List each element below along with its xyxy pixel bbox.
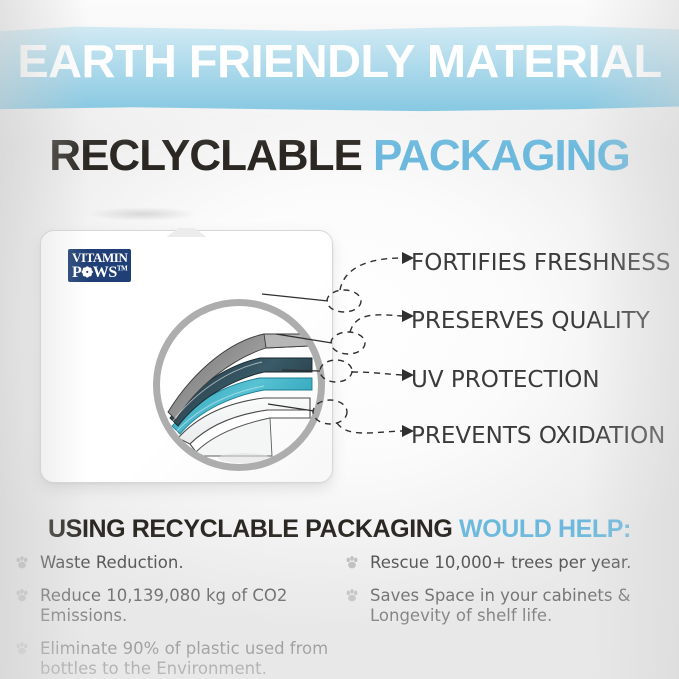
sub-heading-dark: RECLYCLABLE <box>49 131 362 180</box>
callout-label-uv-protection: UV PROTECTION <box>411 369 600 392</box>
paw-print-icon <box>14 588 30 603</box>
sub-heading-blue: PACKAGING <box>373 131 630 180</box>
benefit-item: Reduce 10,139,080 kg of CO2 Emissions. <box>14 586 344 626</box>
callout-label-prevents-oxidation: PREVENTS OXIDATION <box>411 425 665 448</box>
reflection-blob <box>218 453 270 463</box>
paw-print-icon <box>14 555 30 570</box>
connector-line-2 <box>350 315 402 332</box>
paw-print-icon <box>344 555 360 570</box>
pouch-shadow <box>88 207 198 221</box>
benefit-text: Reduce 10,139,080 kg of CO2 Emissions. <box>40 586 287 625</box>
brand-logo-line2: P❁WSTM <box>72 265 127 281</box>
bottom-heading-blue: WOULD HELP: <box>459 515 631 543</box>
connector-line-4 <box>337 423 402 433</box>
benefits-column-left: Waste Reduction. Reduce 10,139,080 kg of… <box>14 553 344 679</box>
benefit-text: Rescue 10,000+ trees per year. <box>370 553 631 572</box>
product-pouch: VITAMIN P❁WSTM <box>40 230 333 483</box>
connector-node-2 <box>331 332 365 354</box>
paw-print-icon <box>344 588 360 603</box>
brand-logo: VITAMIN P❁WSTM <box>68 249 131 282</box>
benefit-item: Saves Space in your cabinets & Longevity… <box>344 586 674 626</box>
brand-logo-line1: VITAMIN <box>72 251 127 264</box>
banner-title: EARTH FRIENDLY MATERIAL <box>0 38 679 84</box>
benefit-item: Rescue 10,000+ trees per year. <box>344 553 674 573</box>
film-layers-diagram <box>160 306 318 464</box>
infographic-page: EARTH FRIENDLY MATERIAL RECLYCLABLE PACK… <box>0 0 679 679</box>
trademark-icon: TM <box>117 265 127 273</box>
bottom-heading: USING RECYCLABLE PACKAGING WOULD HELP: <box>0 516 679 542</box>
paw-print-icon <box>14 641 30 656</box>
bottom-heading-dark: USING RECYCLABLE PACKAGING <box>48 515 452 543</box>
callout-label-preserves-quality: PRESERVES QUALITY <box>411 310 650 333</box>
paw-icon: ❁ <box>81 266 92 281</box>
benefit-item: Eliminate 90% of plastic used from bottl… <box>14 639 344 679</box>
benefits-column-right: Rescue 10,000+ trees per year. Saves Spa… <box>344 553 674 639</box>
brand-logo-p: P <box>72 264 81 281</box>
benefit-text: Saves Space in your cabinets & Longevity… <box>370 586 631 625</box>
outer-film-top-face <box>264 334 310 348</box>
pouch-hang-tab <box>167 228 207 237</box>
benefit-text: Eliminate 90% of plastic used from bottl… <box>40 639 328 678</box>
benefit-text: Waste Reduction. <box>40 553 184 572</box>
callout-label-fortifies-freshness: FORTIFIES FRESHNESS <box>411 252 671 275</box>
benefit-item: Waste Reduction. <box>14 553 344 573</box>
connector-line-1 <box>340 258 402 290</box>
magnifier-contents <box>160 306 318 464</box>
brand-logo-ws: WS <box>93 264 117 281</box>
sub-heading: RECLYCLABLE PACKAGING <box>0 133 679 179</box>
magnifier-circle <box>153 299 325 471</box>
connector-line-3 <box>352 372 402 375</box>
